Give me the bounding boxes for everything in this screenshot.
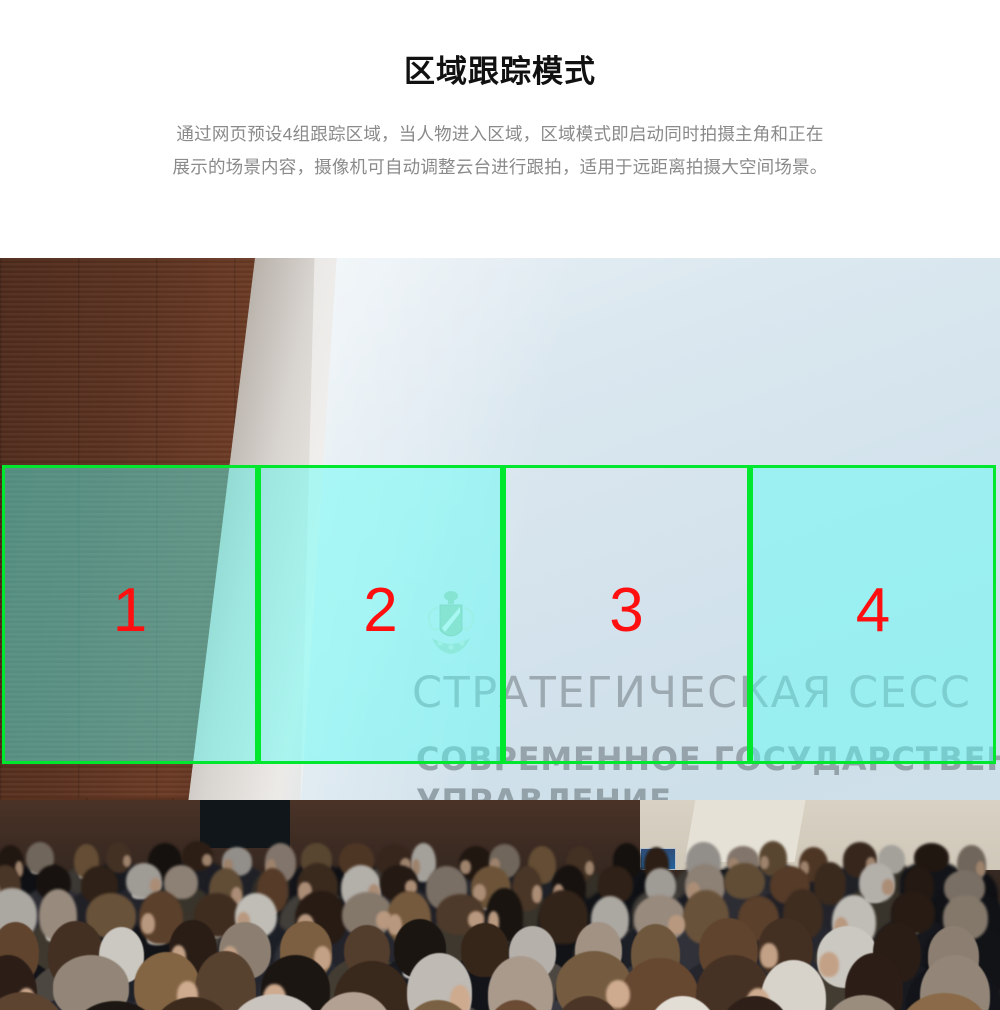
audience-dark-panel xyxy=(200,800,290,848)
intro-text-section: 区域跟踪模式 通过网页预设4组跟踪区域，当人物进入区域，区域模式即启动同时拍摄主… xyxy=(0,0,1000,258)
audience-area xyxy=(0,800,1000,1010)
audience-person-face xyxy=(202,854,212,866)
audience-person-head xyxy=(724,863,765,899)
page-description: 通过网页预设4组跟踪区域，当人物进入区域，区域模式即启动同时拍摄主角和正在 展示… xyxy=(70,118,930,184)
tracking-zone-4[interactable]: 4 xyxy=(750,465,996,764)
description-line-2: 展示的场景内容，摄像机可自动调整云台进行跟拍，适用于远距离拍摄大空间场景。 xyxy=(70,151,930,184)
audience-person-face xyxy=(819,952,839,977)
zone-1-label: 1 xyxy=(113,580,147,642)
audience-person-face xyxy=(532,885,542,903)
description-line-1: 通过网页预设4组跟踪区域，当人物进入区域，区域模式即启动同时拍摄主角和正在 xyxy=(70,118,930,151)
zone-3-label: 3 xyxy=(609,580,643,642)
zone-4-label: 4 xyxy=(856,580,890,642)
tracking-zone-2[interactable]: 2 xyxy=(258,465,503,764)
audience-person-face xyxy=(123,855,131,867)
zone-2-label: 2 xyxy=(363,580,397,642)
tracking-zone-3[interactable]: 3 xyxy=(503,465,750,764)
page-title: 区域跟踪模式 xyxy=(0,52,1000,92)
audience-person-face xyxy=(585,861,594,875)
audience-person-face xyxy=(150,878,161,892)
audience-person-face xyxy=(760,943,778,968)
audience-person-face xyxy=(141,913,155,934)
tracking-zone-1[interactable]: 1 xyxy=(2,465,258,764)
audience-person-face xyxy=(882,879,894,895)
